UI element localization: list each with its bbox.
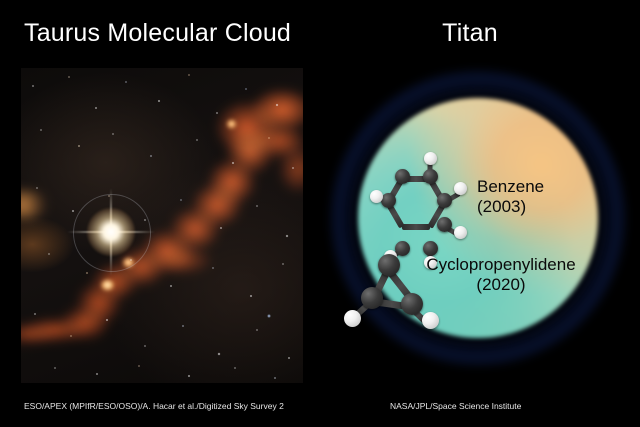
benzene-label-year: (2003): [477, 197, 544, 217]
benzene-label: Benzene (2003): [477, 177, 544, 217]
right-panel-title: Titan: [0, 21, 640, 46]
carbon-atom: [437, 193, 452, 208]
carbon-atom: [378, 254, 400, 276]
bond: [402, 224, 430, 230]
left-panel-credit: ESO/APEX (MPIfR/ESO/OSO)/A. Hacar et al.…: [24, 402, 284, 411]
hydrogen-atom: [454, 182, 467, 195]
benzene-label-name: Benzene: [477, 177, 544, 196]
dust-glow-left: [21, 190, 51, 220]
hydrogen-atom: [422, 312, 439, 329]
carbon-atom: [401, 293, 423, 315]
hydrogen-atom: [454, 226, 467, 239]
image-canvas: Taurus Molecular Cloud Titan: [0, 0, 640, 427]
right-panel-credit: NASA/JPL/Space Science Institute: [390, 402, 521, 411]
carbon-atom: [395, 169, 410, 184]
carbon-atom: [437, 217, 452, 232]
benzene-molecule-model: [382, 160, 478, 252]
taurus-molecular-cloud-image: [21, 68, 303, 383]
star-glow: [87, 208, 135, 256]
filament-branch: [157, 246, 211, 274]
bright-star: [67, 188, 155, 276]
titan-image: [332, 72, 624, 364]
cyclopropenylidene-label-name: Cyclopropenylidene: [426, 255, 575, 274]
hydrogen-atom: [344, 310, 361, 327]
hydrogen-atom: [370, 190, 383, 203]
filament-core: [227, 120, 236, 128]
carbon-atom: [381, 193, 396, 208]
carbon-atom: [423, 169, 438, 184]
hydrogen-atom: [424, 152, 437, 165]
cyclopropenylidene-label-year: (2020): [420, 275, 582, 295]
filament-core: [101, 280, 114, 290]
carbon-atom: [361, 287, 383, 309]
cyclopropenylidene-label: Cyclopropenylidene (2020): [420, 255, 582, 295]
